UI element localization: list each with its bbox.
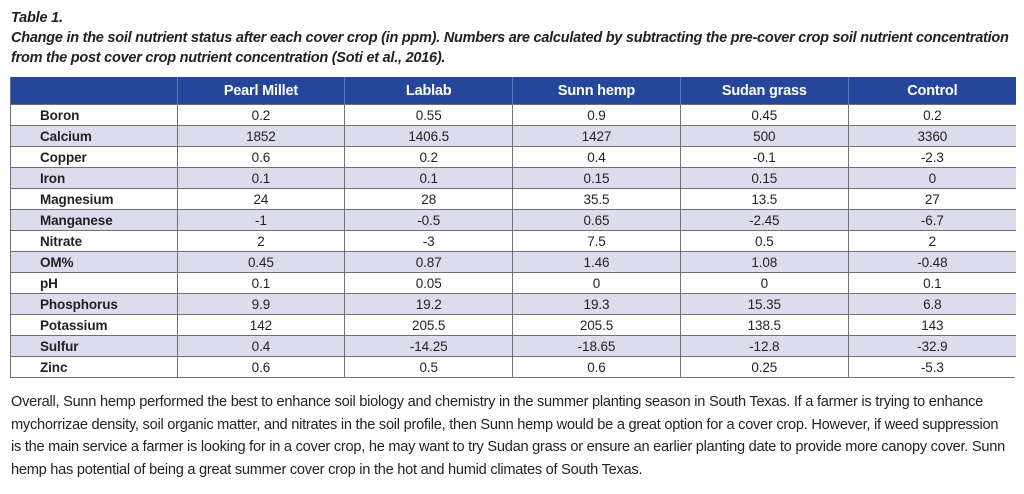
cell-ph-pearl-millet: 0.1	[177, 273, 345, 294]
row-label-phosphorus: Phosphorus	[11, 294, 177, 315]
row-label-ph: pH	[11, 273, 177, 294]
table-row: Potassium 142 205.5 205.5 138.5 143	[11, 315, 1016, 336]
cell-magnesium-sudan-grass: 13.5	[680, 189, 848, 210]
cell-boron-control: 0.2	[848, 105, 1016, 126]
cell-copper-lablab: 0.2	[345, 147, 513, 168]
cell-zinc-pearl-millet: 0.6	[177, 357, 345, 378]
table-header: Pearl Millet Lablab Sunn hemp Sudan gras…	[11, 77, 1016, 105]
cell-phosphorus-sudan-grass: 15.35	[680, 294, 848, 315]
row-label-iron: Iron	[11, 168, 177, 189]
cell-potassium-control: 143	[848, 315, 1016, 336]
cell-potassium-lablab: 205.5	[345, 315, 513, 336]
table-row: Sulfur 0.4 -14.25 -18.65 -12.8 -32.9	[11, 336, 1016, 357]
cell-manganese-pearl-millet: -1	[177, 210, 345, 231]
row-label-copper: Copper	[11, 147, 177, 168]
table-header-control: Control	[848, 77, 1016, 105]
cell-iron-sudan-grass: 0.15	[680, 168, 848, 189]
cell-copper-sudan-grass: -0.1	[680, 147, 848, 168]
table-row: Nitrate 2 -3 7.5 0.5 2	[11, 231, 1016, 252]
cell-magnesium-sunn-hemp: 35.5	[513, 189, 681, 210]
cell-nitrate-sudan-grass: 0.5	[680, 231, 848, 252]
cell-boron-lablab: 0.55	[345, 105, 513, 126]
cell-iron-control: 0	[848, 168, 1016, 189]
table-caption-label: Table 1.	[11, 9, 1012, 28]
row-label-om-percent: OM%	[11, 252, 177, 273]
document-page: Table 1. Change in the soil nutrient sta…	[0, 0, 1024, 494]
cell-calcium-lablab: 1406.5	[345, 126, 513, 147]
cell-potassium-pearl-millet: 142	[177, 315, 345, 336]
table-row: OM% 0.45 0.87 1.46 1.08 -0.48	[11, 252, 1016, 273]
table-caption: Table 1. Change in the soil nutrient sta…	[0, 0, 1024, 68]
cell-magnesium-control: 27	[848, 189, 1016, 210]
nutrient-table: Pearl Millet Lablab Sunn hemp Sudan gras…	[11, 77, 1016, 377]
table-header-pearl-millet: Pearl Millet	[177, 77, 345, 105]
cell-zinc-sudan-grass: 0.25	[680, 357, 848, 378]
row-label-zinc: Zinc	[11, 357, 177, 378]
table-header-row: Pearl Millet Lablab Sunn hemp Sudan gras…	[11, 77, 1016, 105]
cell-nitrate-lablab: -3	[345, 231, 513, 252]
cell-copper-pearl-millet: 0.6	[177, 147, 345, 168]
cell-ph-sunn-hemp: 0	[513, 273, 681, 294]
row-label-magnesium: Magnesium	[11, 189, 177, 210]
cell-nitrate-control: 2	[848, 231, 1016, 252]
body-paragraph: Overall, Sunn hemp performed the best to…	[11, 391, 1012, 481]
row-label-sulfur: Sulfur	[11, 336, 177, 357]
cell-nitrate-pearl-millet: 2	[177, 231, 345, 252]
cell-boron-sunn-hemp: 0.9	[513, 105, 681, 126]
cell-sulfur-lablab: -14.25	[345, 336, 513, 357]
row-label-manganese: Manganese	[11, 210, 177, 231]
cell-potassium-sudan-grass: 138.5	[680, 315, 848, 336]
cell-boron-pearl-millet: 0.2	[177, 105, 345, 126]
row-label-nitrate: Nitrate	[11, 231, 177, 252]
cell-nitrate-sunn-hemp: 7.5	[513, 231, 681, 252]
cell-iron-lablab: 0.1	[345, 168, 513, 189]
cell-potassium-sunn-hemp: 205.5	[513, 315, 681, 336]
cell-phosphorus-sunn-hemp: 19.3	[513, 294, 681, 315]
table-row: pH 0.1 0.05 0 0 0.1	[11, 273, 1016, 294]
cell-manganese-sudan-grass: -2.45	[680, 210, 848, 231]
cell-ph-control: 0.1	[848, 273, 1016, 294]
cell-sulfur-control: -32.9	[848, 336, 1016, 357]
cell-phosphorus-control: 6.8	[848, 294, 1016, 315]
cell-om-percent-control: -0.48	[848, 252, 1016, 273]
cell-boron-sudan-grass: 0.45	[680, 105, 848, 126]
table-row: Phosphorus 9.9 19.2 19.3 15.35 6.8	[11, 294, 1016, 315]
table-header-sudan-grass: Sudan grass	[680, 77, 848, 105]
table-row: Boron 0.2 0.55 0.9 0.45 0.2	[11, 105, 1016, 126]
cell-manganese-sunn-hemp: 0.65	[513, 210, 681, 231]
cell-magnesium-pearl-millet: 24	[177, 189, 345, 210]
cell-calcium-sunn-hemp: 1427	[513, 126, 681, 147]
cell-om-percent-lablab: 0.87	[345, 252, 513, 273]
cell-ph-sudan-grass: 0	[680, 273, 848, 294]
cell-zinc-sunn-hemp: 0.6	[513, 357, 681, 378]
cell-copper-sunn-hemp: 0.4	[513, 147, 681, 168]
table-row: Magnesium 24 28 35.5 13.5 27	[11, 189, 1016, 210]
cell-calcium-sudan-grass: 500	[680, 126, 848, 147]
table-row: Copper 0.6 0.2 0.4 -0.1 -2.3	[11, 147, 1016, 168]
cell-manganese-control: -6.7	[848, 210, 1016, 231]
cell-ph-lablab: 0.05	[345, 273, 513, 294]
cell-om-percent-pearl-millet: 0.45	[177, 252, 345, 273]
row-label-boron: Boron	[11, 105, 177, 126]
cell-manganese-lablab: -0.5	[345, 210, 513, 231]
table-row: Zinc 0.6 0.5 0.6 0.25 -5.3	[11, 357, 1016, 378]
cell-zinc-lablab: 0.5	[345, 357, 513, 378]
nutrient-table-container: Pearl Millet Lablab Sunn hemp Sudan gras…	[10, 77, 1015, 378]
cell-zinc-control: -5.3	[848, 357, 1016, 378]
cell-calcium-control: 3360	[848, 126, 1016, 147]
cell-phosphorus-pearl-millet: 9.9	[177, 294, 345, 315]
table-header-corner	[11, 77, 177, 105]
table-header-lablab: Lablab	[345, 77, 513, 105]
cell-copper-control: -2.3	[848, 147, 1016, 168]
cell-magnesium-lablab: 28	[345, 189, 513, 210]
cell-sulfur-pearl-millet: 0.4	[177, 336, 345, 357]
table-row: Iron 0.1 0.1 0.15 0.15 0	[11, 168, 1016, 189]
cell-iron-sunn-hemp: 0.15	[513, 168, 681, 189]
cell-sulfur-sudan-grass: -12.8	[680, 336, 848, 357]
row-label-calcium: Calcium	[11, 126, 177, 147]
cell-sulfur-sunn-hemp: -18.65	[513, 336, 681, 357]
cell-phosphorus-lablab: 19.2	[345, 294, 513, 315]
row-label-potassium: Potassium	[11, 315, 177, 336]
cell-om-percent-sudan-grass: 1.08	[680, 252, 848, 273]
table-body: Boron 0.2 0.55 0.9 0.45 0.2 Calcium 1852…	[11, 105, 1016, 378]
table-caption-text: Change in the soil nutrient status after…	[11, 29, 1012, 68]
cell-om-percent-sunn-hemp: 1.46	[513, 252, 681, 273]
table-row: Manganese -1 -0.5 0.65 -2.45 -6.7	[11, 210, 1016, 231]
cell-iron-pearl-millet: 0.1	[177, 168, 345, 189]
cell-calcium-pearl-millet: 1852	[177, 126, 345, 147]
table-header-sunn-hemp: Sunn hemp	[513, 77, 681, 105]
table-row: Calcium 1852 1406.5 1427 500 3360	[11, 126, 1016, 147]
